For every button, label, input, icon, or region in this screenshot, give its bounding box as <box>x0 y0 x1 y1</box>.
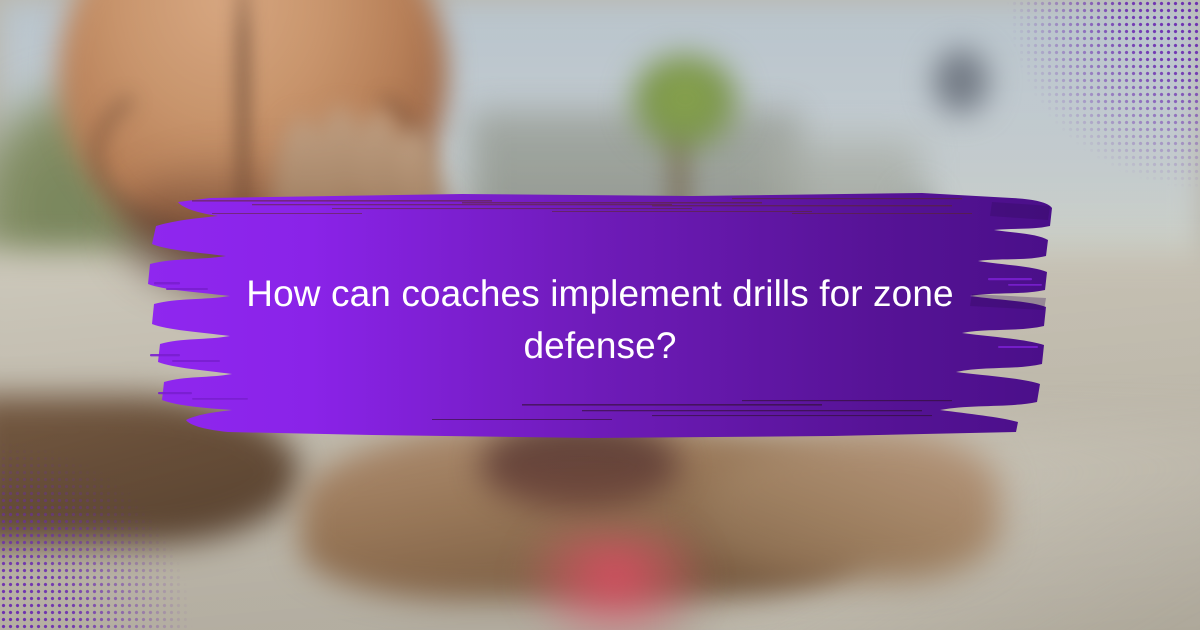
page-title: How can coaches implement drills for zon… <box>180 268 1020 372</box>
tree-foliage-shape <box>630 55 740 150</box>
background-sign-shape <box>930 45 992 117</box>
jersey-highlight <box>520 530 710 630</box>
banner-canvas: How can coaches implement drills for zon… <box>0 0 1200 630</box>
